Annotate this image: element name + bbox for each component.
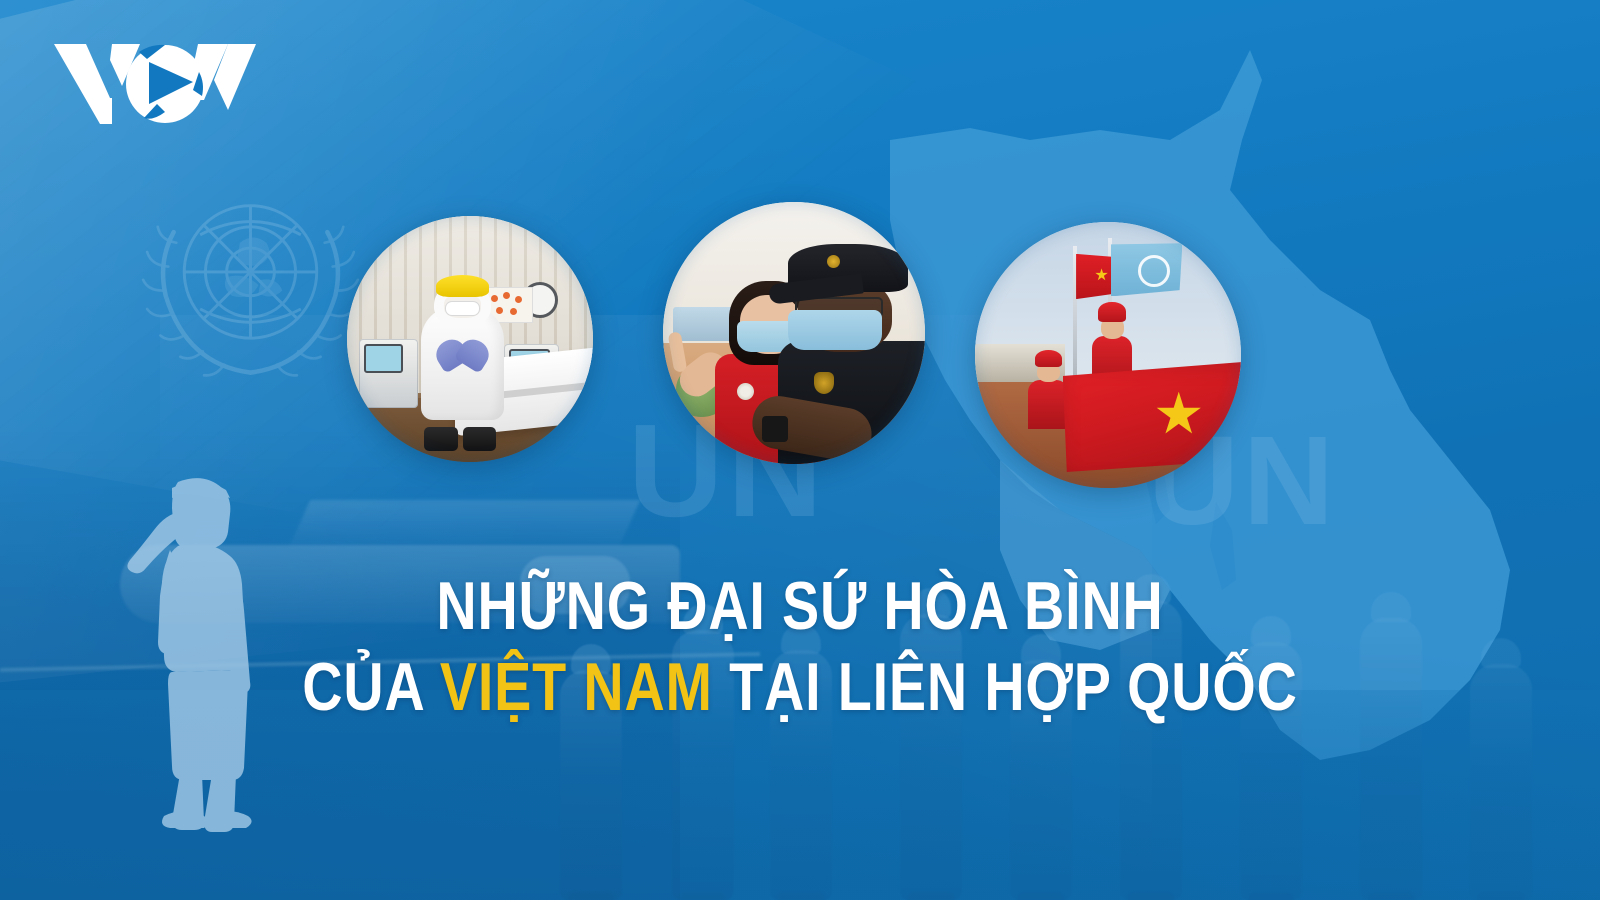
headline-line-2-suffix: TẠI LIÊN HỢP QUỐC	[713, 649, 1298, 725]
headline-highlight-vietnam: VIỆT NAM	[440, 649, 713, 725]
poster-canvas: UN UN	[0, 0, 1600, 900]
photo-medical-worker[interactable]	[347, 216, 593, 462]
un-emblem-watermark-icon	[118, 150, 383, 415]
photo-peacekeepers-briefing[interactable]	[663, 202, 925, 464]
headline-line-2-prefix: CỦA	[302, 649, 440, 725]
headline-line-1: NHỮNG ĐẠI SỨ HÒA BÌNH	[144, 572, 1456, 641]
vov-logo-icon[interactable]	[52, 38, 258, 124]
headline-block: NHỮNG ĐẠI SỨ HÒA BÌNH CỦA VIỆT NAM TẠI L…	[0, 572, 1600, 723]
photo-vietnam-flag[interactable]	[975, 222, 1241, 488]
headline-line-2: CỦA VIỆT NAM TẠI LIÊN HỢP QUỐC	[144, 653, 1456, 722]
